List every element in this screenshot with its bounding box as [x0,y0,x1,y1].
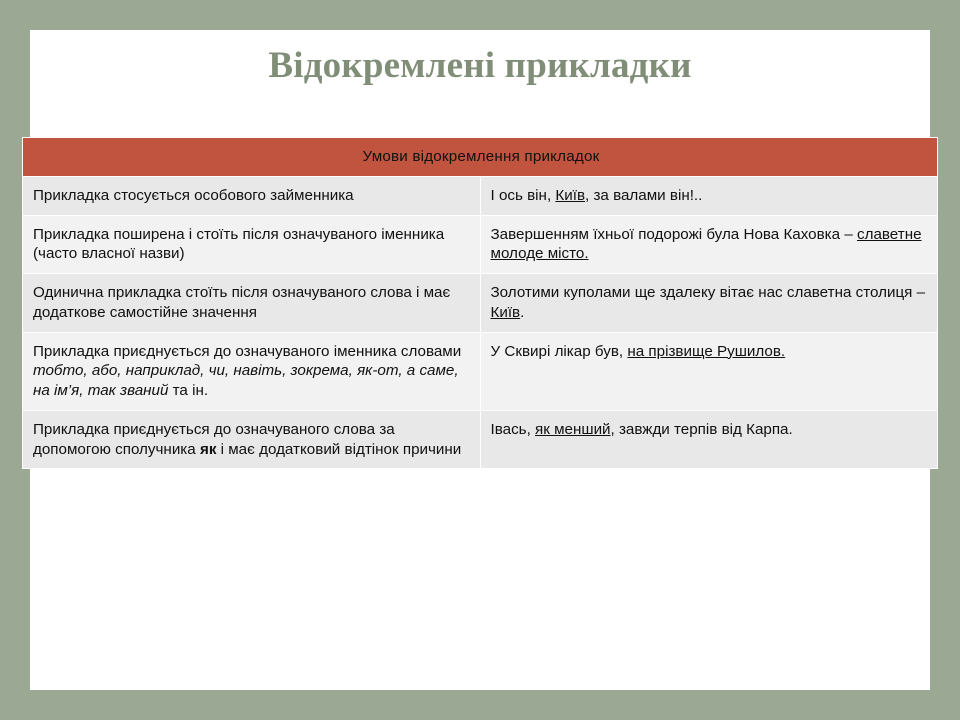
table-row: Прикладка поширена і стоїть після означу… [23,215,938,274]
text-run: . [520,304,524,321]
text-run: Прикладка поширена і стоїть після означу… [33,226,444,263]
table-cell-example: Завершенням їхньої подорожі була Нова Ка… [480,215,938,274]
text-run: І ось він, [491,187,556,204]
table-cell-condition: Прикладка стосується особового займенник… [23,176,481,215]
conditions-table-wrapper: Умови відокремлення прикладок Прикладка … [22,137,938,469]
text-run: , завжди терпів від Карпа. [611,421,793,438]
text-run: , за валами він!.. [585,187,702,204]
table-cell-condition: Прикладка приєднується до означуваного і… [23,332,481,410]
text-run: Івась, [491,421,536,438]
table-cell-example: Золотими куполами ще здалеку вітає нас с… [480,274,938,333]
table-cell-condition: Одинична прикладка стоїть після означува… [23,274,481,333]
text-run: Прикладка приєднується до означуваного і… [33,343,461,360]
text-run: Завершенням їхньої подорожі була Нова Ка… [491,226,858,243]
page-title: Відокремлені прикладки [30,44,930,87]
table-cell-example: І ось він, Київ, за валами він!.. [480,176,938,215]
text-run: У Сквирі лікар був, [491,343,628,360]
conditions-table: Умови відокремлення прикладок Прикладка … [22,137,938,469]
bold-text: як [200,441,216,458]
table-row: Прикладка приєднується до означуваного с… [23,410,938,469]
table-cell-example: У Сквирі лікар був, на прізвище Рушилов. [480,332,938,410]
table-cell-condition: Прикладка приєднується до означуваного с… [23,410,481,469]
table-header-cell: Умови відокремлення прикладок [23,138,938,177]
text-run: і має додатковий відтінок причини [216,441,461,458]
text-run: Одинична прикладка стоїть після означува… [33,284,450,321]
table-row: Прикладка приєднується до означуваного і… [23,332,938,410]
underlined-text: як менший [535,421,611,438]
table-row: Прикладка стосується особового займенник… [23,176,938,215]
table-cell-example: Івась, як менший, завжди терпів від Карп… [480,410,938,469]
italic-text: тобто, або, наприклад, чи, навіть, зокре… [33,362,459,399]
table-cell-condition: Прикладка поширена і стоїть після означу… [23,215,481,274]
underlined-text: Київ [555,187,585,204]
underlined-text: на прізвище Рушилов. [627,343,785,360]
text-run: Прикладка стосується особового займенник… [33,187,354,204]
table-row: Одинична прикладка стоїть після означува… [23,274,938,333]
text-run: Золотими куполами ще здалеку вітає нас с… [491,284,926,301]
table-header-row: Умови відокремлення прикладок [23,138,938,177]
slide-canvas: Відокремлені прикладки Умови відокремлен… [0,0,960,720]
underlined-text: Київ [491,304,521,321]
conditions-table-body: Умови відокремлення прикладок Прикладка … [23,138,938,469]
text-run: та ін. [168,382,208,399]
